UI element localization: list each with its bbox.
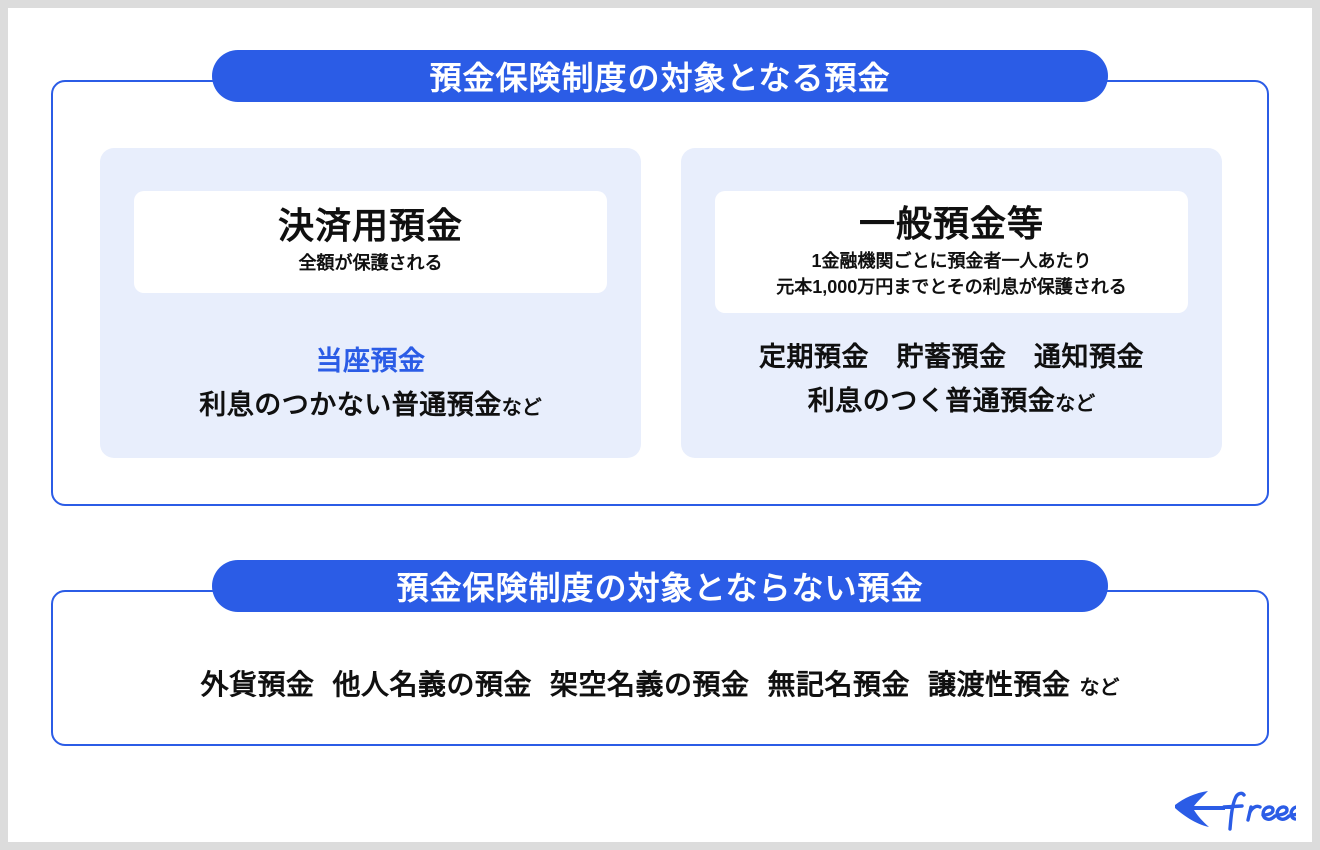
- card-settlement-body: 当座預金 利息のつかない普通預金など: [100, 340, 641, 427]
- uncovered-deposits-banner: 預金保険制度の対象とならない預金: [212, 560, 1108, 612]
- infographic-sheet: 預金保険制度の対象となる預金 決済用預金 全額が保護される 当座預金 利息のつか…: [8, 8, 1312, 842]
- freee-logo: [1168, 784, 1296, 832]
- uncovered-item-2: 他人名義の預金: [332, 669, 532, 700]
- card-settlement-subtitle-line-1: 全額が保護される: [144, 251, 597, 277]
- card-settlement-deposits: 決済用預金 全額が保護される 当座預金 利息のつかない普通預金など: [100, 148, 641, 458]
- general-item-2-nado: など: [1055, 393, 1095, 415]
- general-item-2-text: 利息のつく普通預金: [808, 386, 1056, 416]
- uncovered-item-1: 外貨預金: [200, 669, 314, 700]
- uncovered-item-3: 架空名義の預金: [550, 669, 750, 700]
- card-general-subtitle-line-2: 元本1,000万円までとその利息が保護される: [725, 275, 1178, 301]
- card-general-body: 定期預金 貯蓄預金 通知預金 利息のつく普通預金など: [681, 336, 1222, 423]
- swallow-bird-icon: [1175, 791, 1232, 827]
- settlement-item-2: 利息のつかない普通預金など: [100, 384, 641, 428]
- freee-wordmark: [1224, 793, 1296, 829]
- settlement-item-2-text: 利息のつかない普通預金: [199, 390, 502, 420]
- uncovered-item-5: 譲渡性預金: [928, 669, 1071, 700]
- card-general-subtitle-line-1: 1金融機関ごとに預金者一人あたり: [725, 249, 1178, 275]
- card-settlement-title: 決済用預金: [144, 205, 597, 247]
- card-general-subtitle: 1金融機関ごとに預金者一人あたり 元本1,000万円までとその利息が保護される: [725, 249, 1178, 300]
- covered-deposits-banner: 預金保険制度の対象となる預金: [212, 50, 1108, 102]
- card-settlement-head: 決済用預金 全額が保護される: [134, 191, 607, 293]
- settlement-item-1: 当座預金: [100, 340, 641, 384]
- uncovered-item-4: 無記名預金: [768, 669, 911, 700]
- card-general-head: 一般預金等 1金融機関ごとに預金者一人あたり 元本1,000万円までとその利息が…: [715, 191, 1188, 313]
- card-settlement-subtitle: 全額が保護される: [144, 251, 597, 277]
- card-general-deposits: 一般預金等 1金融機関ごとに預金者一人あたり 元本1,000万円までとその利息が…: [681, 148, 1222, 458]
- card-general-title: 一般預金等: [725, 203, 1178, 245]
- uncovered-deposits-list: 外貨預金他人名義の預金架空名義の預金無記名預金譲渡性預金など: [51, 663, 1269, 703]
- settlement-item-2-nado: など: [502, 397, 542, 419]
- uncovered-list-nado: など: [1080, 677, 1120, 699]
- general-item-1: 定期預金 貯蓄預金 通知預金: [681, 336, 1222, 380]
- general-item-2: 利息のつく普通預金など: [681, 380, 1222, 424]
